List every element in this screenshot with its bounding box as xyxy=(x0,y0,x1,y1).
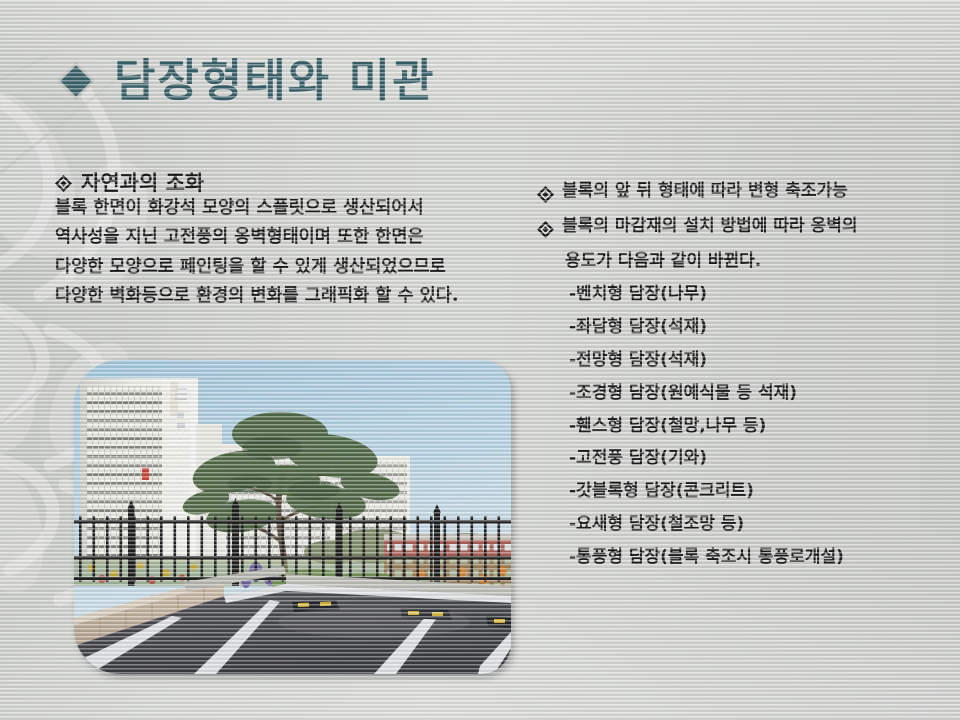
diamond-icon xyxy=(56,61,96,101)
right-bullet-2-continuation: 용도가 다음과 같이 바뀐다. xyxy=(565,253,952,270)
dash-item-7: -갓블록형 담장(콘크리트) xyxy=(569,483,952,500)
right-text-column: 블록의 앞 뒤 형태에 따라 변형 축조가능 블록의 마감재의 설치 방법에 따… xyxy=(537,183,952,566)
left-text-column: 자연과의 조화 블록 한면이 화강석 모양의 스플릿으로 생산되어서 역사성을 … xyxy=(55,172,525,306)
dash-item-8: -요새형 담장(철조망 등) xyxy=(569,516,952,533)
right-bullet-1-text: 블록의 앞 뒤 형태에 따라 변형 축조가능 xyxy=(562,183,848,200)
right-bullet-2-text: 블록의 마감재의 설치 방법에 따라 옹벽의 xyxy=(562,218,857,235)
dash-item-3: -전망형 담장(석재) xyxy=(569,352,952,369)
left-body-line-4: 다양한 벽화등으로 환경의 변화를 그래픽화 할 수 있다. xyxy=(55,288,525,306)
page-title: 담장형태와 미관 xyxy=(56,58,435,103)
left-column-heading: 자연과의 조화 xyxy=(55,172,525,196)
right-bullet-2: 블록의 마감재의 설치 방법에 따라 옹벽의 xyxy=(537,218,952,238)
left-body-line-3: 다양한 모양으로 페인팅을 할 수 있게 생산되었으므로 xyxy=(55,259,525,277)
left-body-line-1: 블록 한면이 화강석 모양의 스플릿으로 생산되어서 xyxy=(55,200,525,218)
dash-item-4: -조경형 담장(원예식물 등 석재) xyxy=(569,385,952,402)
page-title-text: 담장형태와 미관 xyxy=(114,58,435,103)
left-heading-text: 자연과의 조화 xyxy=(81,172,204,196)
black-diamond-icon xyxy=(537,221,554,238)
right-bullet-1: 블록의 앞 뒤 형태에 따라 변형 축조가능 xyxy=(537,183,952,203)
black-diamond-icon xyxy=(55,175,72,192)
parking-lot-fence-photo xyxy=(74,360,511,674)
dash-item-1: -벤치형 담장(나무) xyxy=(569,286,952,303)
dash-item-6: -고전풍 담장(기와) xyxy=(569,450,952,467)
dash-item-5: -휀스형 담장(철망,나무 등) xyxy=(569,418,952,435)
black-diamond-icon xyxy=(537,186,554,203)
dash-item-2: -좌담형 담장(석재) xyxy=(569,319,952,336)
presentation-slide: 담장형태와 미관 자연과의 조화 블록 한면이 화강석 모양의 스플릿으로 생산… xyxy=(0,0,960,720)
photo-image xyxy=(74,360,511,674)
dash-item-9: -통풍형 담장(블록 축조시 통풍로개설) xyxy=(569,549,952,566)
left-body-line-2: 역사성을 지닌 고전풍의 옹벽형태이며 또한 한면은 xyxy=(55,229,525,247)
